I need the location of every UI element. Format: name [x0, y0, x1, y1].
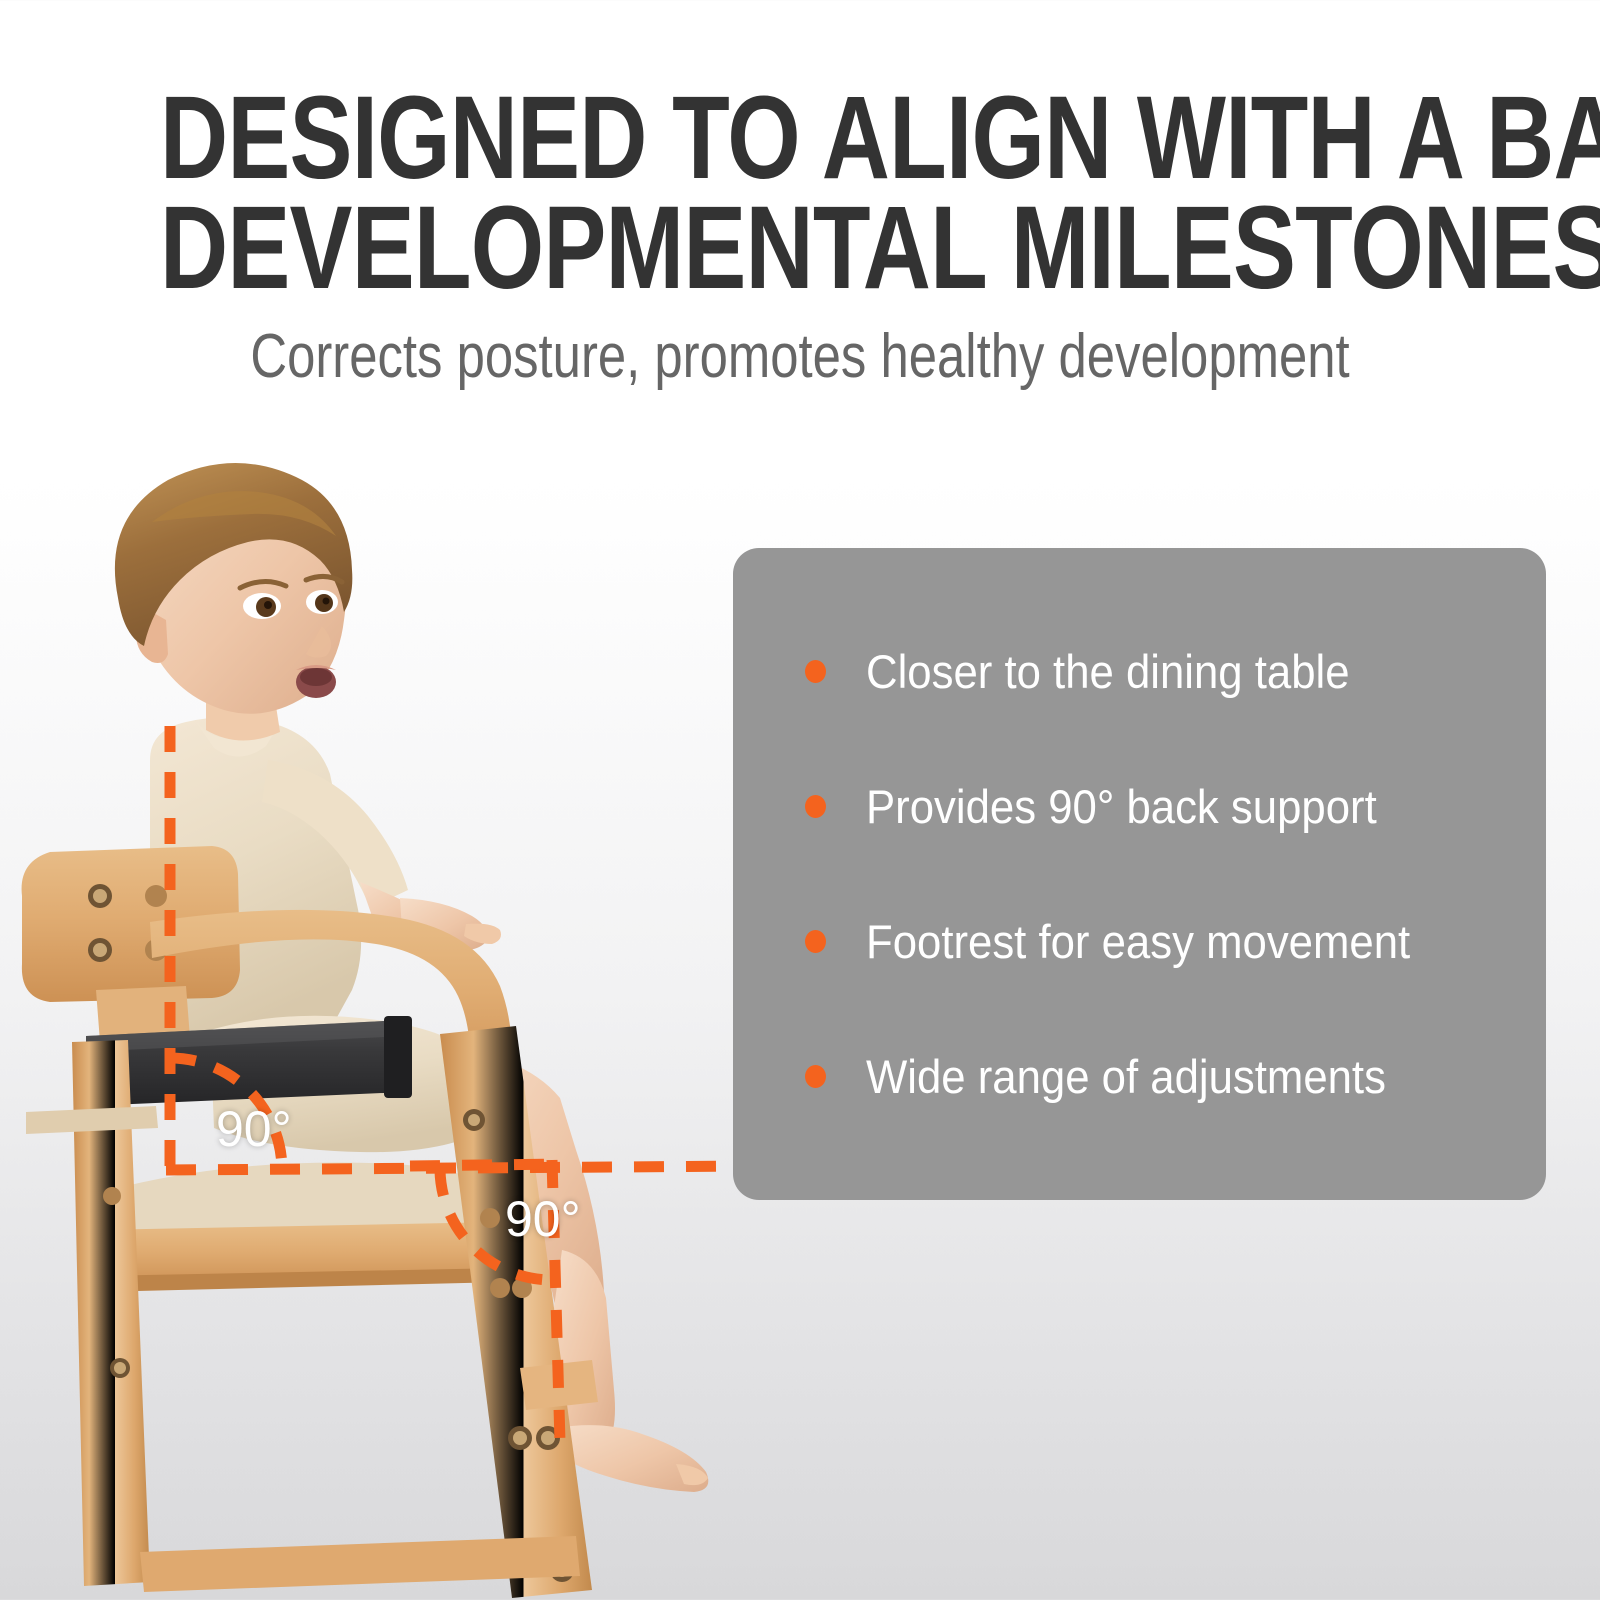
- feature-label-3: Footrest for easy movement: [866, 916, 1410, 968]
- feature-label-2: Provides 90° back support: [866, 781, 1377, 833]
- bullet-dot-icon: [805, 930, 826, 953]
- page-title-line-1: DESIGNED TO ALIGN WITH A BABY'S: [160, 82, 1440, 195]
- page-title-line-2: DEVELOPMENTAL MILESTONES: [160, 192, 1440, 305]
- feature-label-1: Closer to the dining table: [866, 646, 1350, 698]
- feature-item-2: Provides 90° back support: [805, 739, 1546, 874]
- bullet-dot-icon: [805, 795, 826, 818]
- feature-item-1: Closer to the dining table: [805, 604, 1546, 739]
- feature-list-panel: Closer to the dining table Provides 90° …: [733, 548, 1546, 1200]
- feature-item-4: Wide range of adjustments: [805, 1009, 1546, 1144]
- feature-item-3: Footrest for easy movement: [805, 874, 1546, 1009]
- product-photo: [0, 430, 760, 1600]
- back-angle-label: 90°: [216, 1100, 292, 1158]
- knee-angle-label: 90°: [505, 1190, 581, 1248]
- bullet-dot-icon: [805, 660, 826, 683]
- page-subtitle: Corrects posture, promotes healthy devel…: [144, 322, 1456, 392]
- bullet-dot-icon: [805, 1065, 826, 1088]
- feature-label-4: Wide range of adjustments: [866, 1051, 1386, 1103]
